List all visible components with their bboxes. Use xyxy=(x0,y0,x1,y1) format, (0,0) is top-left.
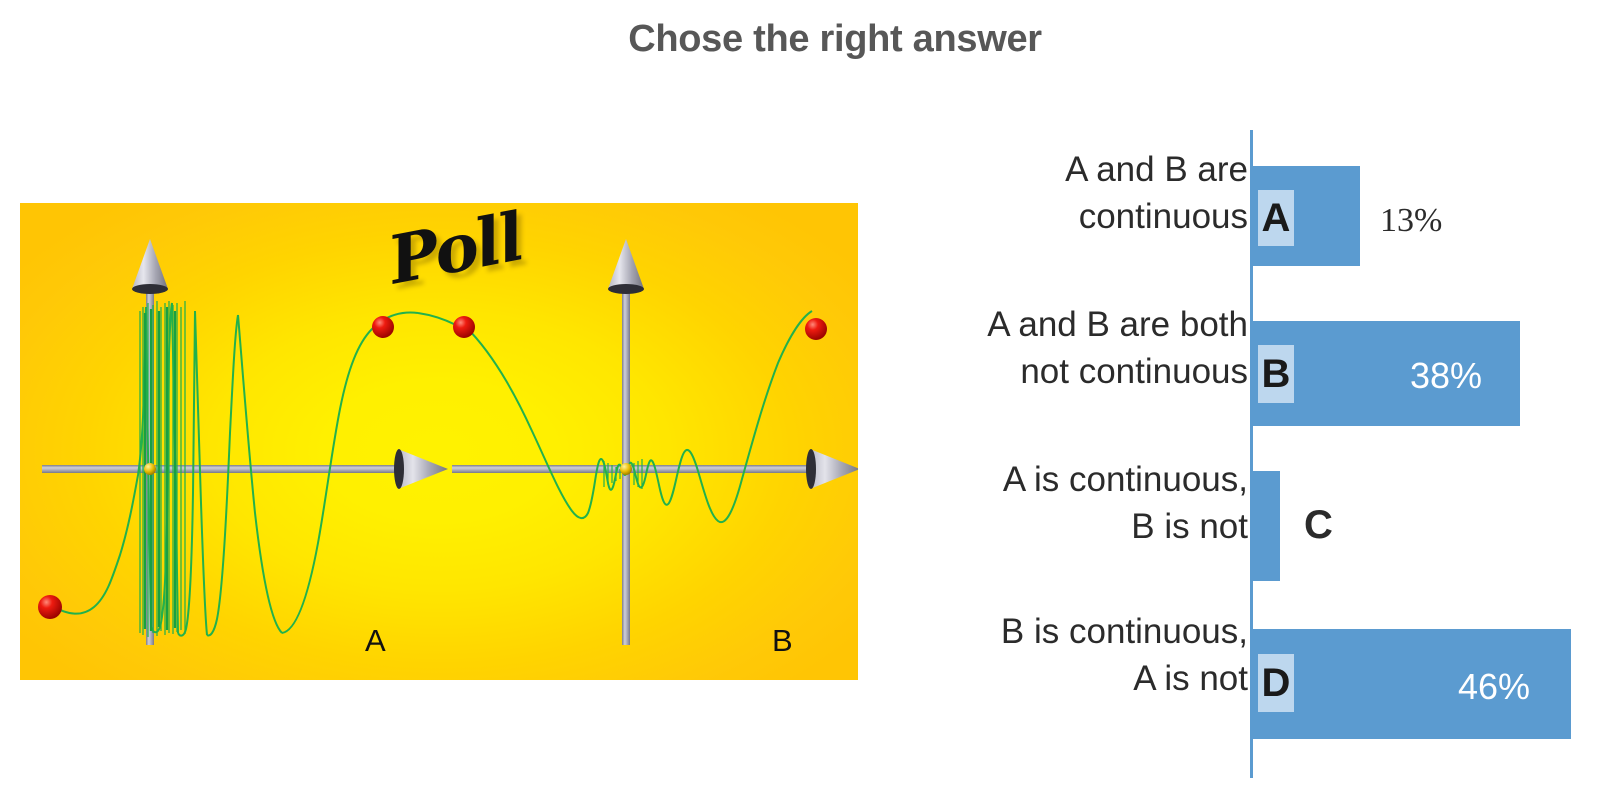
poll-percent-b: 38% xyxy=(1410,355,1482,397)
page-title: Chose the right answer xyxy=(0,18,1600,61)
poll-option-label-a: A and B are continuous xyxy=(828,146,1248,240)
origin-dot xyxy=(620,463,632,475)
poll-badge-a: A xyxy=(1258,190,1294,246)
poll-percent-d: 46% xyxy=(1458,666,1530,708)
poll-badge-b: B xyxy=(1258,345,1294,403)
poll-row-a[interactable]: A and B are continuous A 13% xyxy=(880,118,1580,268)
poll-option-label-d: B is continuous, A is not xyxy=(828,608,1248,702)
endpoint-dot xyxy=(453,316,475,338)
poll-option-label-b: A and B are both not continuous xyxy=(828,301,1248,395)
poll-bar-c xyxy=(1252,471,1280,581)
graph-b xyxy=(452,239,858,645)
poll-row-d[interactable]: B is continuous, A is not D 46% xyxy=(880,576,1580,736)
poll-row-c[interactable]: A is continuous, B is not C xyxy=(880,431,1580,571)
endpoint-dot xyxy=(38,595,62,619)
graphs-illustration xyxy=(20,203,858,680)
graph-a xyxy=(38,239,456,645)
graph-a-caption: A xyxy=(365,623,386,659)
poll-percent-a: 13% xyxy=(1380,202,1442,240)
origin-dot xyxy=(144,463,156,475)
poll-results-chart: A and B are continuous A 13% A and B are… xyxy=(880,118,1580,778)
poll-option-label-c: A is continuous, B is not xyxy=(828,456,1248,550)
poll-row-b[interactable]: A and B are both not continuous B 38% xyxy=(880,273,1580,423)
graph-b-caption: B xyxy=(772,623,793,659)
figure-panel: Poll A B xyxy=(20,203,858,680)
poll-badge-c: C xyxy=(1304,503,1333,548)
poll-badge-d: D xyxy=(1258,654,1294,712)
endpoint-dot xyxy=(805,318,827,340)
endpoint-dot xyxy=(372,316,394,338)
